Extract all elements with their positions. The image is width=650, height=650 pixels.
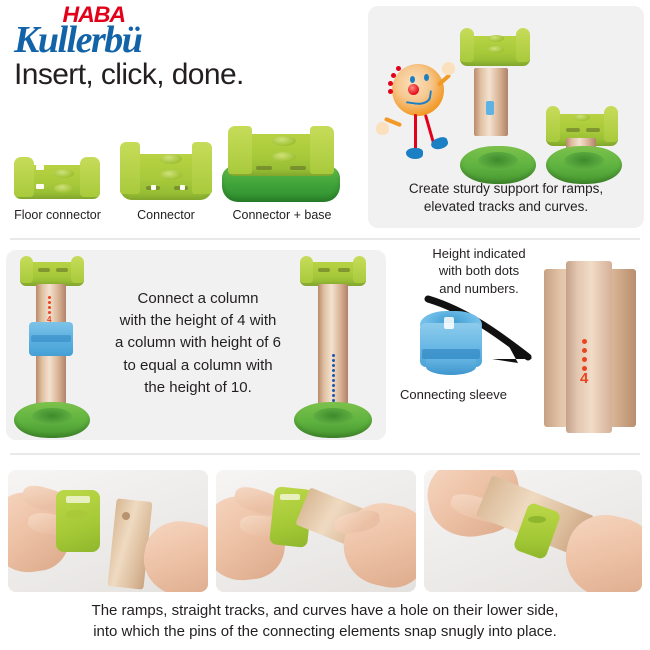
columns-text: Connect a column with the height of 4 wi… <box>98 288 298 399</box>
divider-top <box>10 238 640 240</box>
brand-logo: HABA Kullerbü <box>14 2 194 54</box>
column-4-sleeve <box>29 322 73 356</box>
support-connector-top <box>460 28 530 66</box>
connecting-sleeve-graphic <box>420 311 482 379</box>
column-4-dots: 4 <box>47 296 51 324</box>
photos-caption-line2: into which the pins of the connecting el… <box>0 621 650 642</box>
connector-plus-base-graphic <box>222 126 340 202</box>
columns-text-line-2: with the height of 4 with <box>98 310 298 332</box>
photo-connector-and-track <box>8 470 208 592</box>
kullerbue-wordmark: Kullerbü <box>14 18 141 62</box>
columns-text-line-1: Connect a column <box>98 288 298 310</box>
support-base-foot-right <box>546 146 622 184</box>
floor-connector-graphic <box>14 157 100 199</box>
page-root: HABA Kullerbü Insert, click, done. Floor… <box>0 0 650 650</box>
support-column-marks <box>486 101 494 115</box>
photos-caption: The ramps, straight tracks, and curves h… <box>0 600 650 643</box>
parts-panel: Floor connector Connector <box>0 110 358 235</box>
kullerbue-character-icon <box>384 58 464 163</box>
support-panel: Create sturdy support for ramps, elevate… <box>368 6 644 228</box>
floor-connector-label: Floor connector <box>0 208 115 222</box>
photo-aligning-pins <box>216 470 416 592</box>
connector-plus-base-label: Connector + base <box>218 208 346 222</box>
support-caption-line1: Create sturdy support for ramps, <box>374 180 638 198</box>
height-panel: Height indicated with both dots and numb… <box>392 245 650 445</box>
columns-panel: 4 Connect a column with the height of 4 … <box>6 250 386 440</box>
column-height-10: 10 <box>294 256 372 434</box>
divider-bottom <box>10 453 640 455</box>
photos-caption-line1: The ramps, straight tracks, and curves h… <box>0 600 650 621</box>
height-annotation: Height indicated with both dots and numb… <box>414 245 544 297</box>
wood-block-dots <box>582 339 587 371</box>
support-caption-line2: elevated tracks and curves. <box>374 198 638 216</box>
column-height-4: 4 <box>14 256 90 434</box>
support-caption: Create sturdy support for ramps, elevate… <box>374 180 638 216</box>
height-annotation-line-1: Height indicated <box>414 245 544 262</box>
column-4-foot <box>14 402 90 438</box>
columns-text-line-3: a column with height of 6 <box>98 332 298 354</box>
page-title: Insert, click, done. <box>14 58 244 92</box>
wood-block-with-height: 4 <box>538 261 642 433</box>
connector-label: Connector <box>118 208 214 222</box>
height-annotation-line-2: with both dots <box>414 262 544 279</box>
column-10-foot <box>294 402 372 438</box>
support-base-foot <box>460 146 536 184</box>
columns-text-line-4: to equal a column with <box>98 355 298 377</box>
columns-text-line-5: the height of 10. <box>98 377 298 399</box>
connector-graphic <box>120 142 212 200</box>
photo-snapped-in-place <box>424 470 642 592</box>
connecting-sleeve-label: Connecting sleeve <box>400 387 520 402</box>
wood-block-value: 4 <box>580 371 588 386</box>
